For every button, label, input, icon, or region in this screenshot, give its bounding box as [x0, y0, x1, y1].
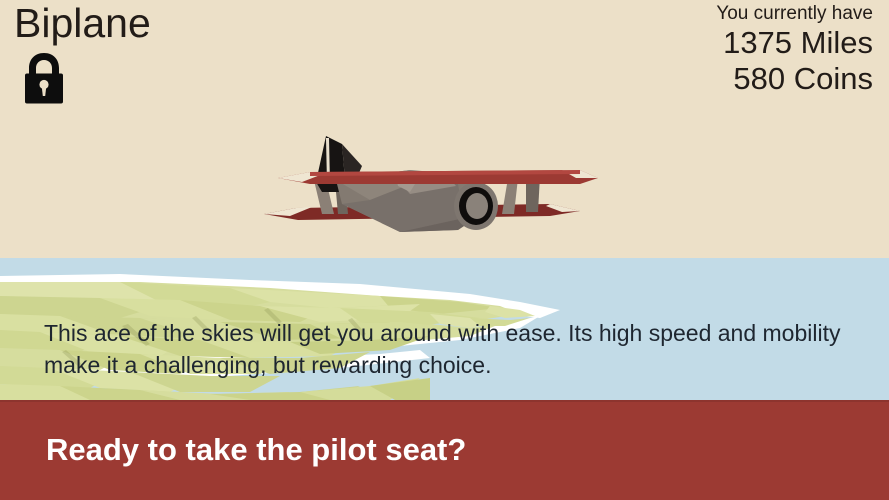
miles-amount: 1375 Miles	[716, 25, 873, 62]
lock-icon	[20, 51, 68, 105]
cta-prompt: Ready to take the pilot seat?	[46, 432, 466, 468]
upper-wing	[278, 170, 598, 184]
vehicle-description: This ace of the skies will get you aroun…	[44, 318, 864, 381]
cta-banner[interactable]: Ready to take the pilot seat?	[0, 400, 889, 500]
vehicle-title-block: Biplane	[14, 2, 151, 105]
engine-cowl	[454, 182, 498, 230]
page-title: Biplane	[14, 2, 151, 45]
currency-caption: You currently have	[716, 3, 873, 25]
coins-amount: 580 Coins	[716, 61, 873, 98]
biplane-illustration	[250, 126, 600, 266]
biplane-svg	[250, 126, 600, 266]
currency-summary: You currently have 1375 Miles 580 Coins	[716, 3, 873, 98]
vehicle-detail-screen: Biplane You currently have 1375 Miles 58…	[0, 0, 889, 500]
